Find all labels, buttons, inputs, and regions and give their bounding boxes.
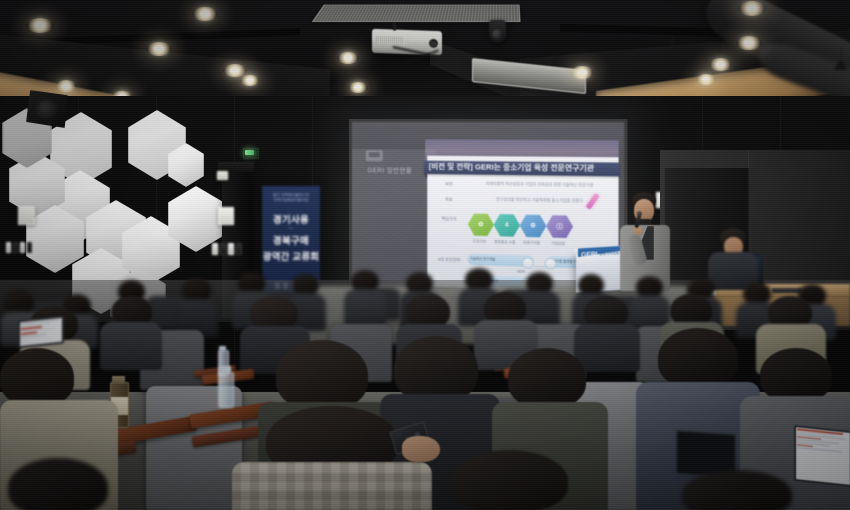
audience-person [344, 270, 386, 326]
downlight [738, 1, 766, 16]
audience-person-foreground [232, 406, 432, 510]
exit-sign-glow [245, 150, 254, 155]
wall-notice-column [218, 207, 234, 225]
downlight [192, 7, 218, 21]
water-bottle-cap [219, 366, 231, 373]
banner-line-2: 경북구매 [262, 233, 320, 247]
pendant-lamp-1 [663, 36, 680, 66]
downlight [55, 80, 77, 92]
audience-person-foreground [672, 470, 842, 510]
slide-hexagon-label-1: 도전가치 [466, 239, 493, 245]
slide-strategy-pill-1-text: 기술혁신 연구개발 [468, 257, 498, 262]
wall-plate[interactable] [217, 171, 228, 180]
downlight [709, 58, 732, 71]
audience-person-foreground [430, 450, 600, 510]
downlight [696, 74, 716, 85]
wall-notice-left [18, 206, 35, 225]
downlight [26, 18, 54, 33]
slide-row-label-goal: 목표 [437, 196, 461, 203]
banner-line-3: 광역간 교류회 [262, 249, 320, 263]
slide-logo [366, 150, 383, 161]
slide-header-label: GERI 일반현황 [367, 166, 412, 176]
wall-speaker [26, 90, 68, 128]
downlight [736, 36, 762, 50]
slide-title-text: [비전 및 전략] GERI는 중소기업 육성 전문연구기관 [424, 162, 595, 174]
banner-line-1: 경기사용 [262, 212, 320, 226]
light-switch-bank-column[interactable] [212, 243, 242, 255]
audience-person-foreground [0, 458, 150, 510]
audience-laptop[interactable] [18, 318, 62, 350]
downlight [146, 42, 172, 56]
ceiling-camera [489, 20, 506, 43]
slide-row-label-vision: 비전 [437, 182, 461, 188]
seminar-room-photo: GERI 일반현황 [비전 및 전략] GERI는 중소기업 육성 전문연구기관… [0, 0, 850, 510]
slide-hexagon-label-4: 기업성장 [544, 241, 572, 247]
downlight [570, 66, 594, 79]
audience-person [176, 278, 218, 336]
slide-row-label-core: 핵심가치 [434, 216, 463, 223]
pendant-lamp-3 [834, 48, 847, 70]
slide-strategy-dot-2 [545, 257, 557, 269]
water-bottle [218, 372, 234, 408]
slide-hexagon-label-3: 미래가치형 [518, 240, 546, 246]
slide-row-label-strategy: 4대 추진전략 [432, 256, 467, 263]
light-switch-bank-left[interactable] [6, 242, 32, 253]
slide-hexagon-label-2: 현장중심 소통 [491, 239, 518, 245]
downlight [240, 75, 260, 86]
podium-brand: GERI [581, 251, 597, 259]
downlight [337, 52, 359, 64]
ceiling-ac-vent-center [312, 5, 521, 22]
banner-divider: ↔ [262, 226, 320, 231]
water-bottle-cap [219, 346, 226, 351]
slide-title-bar: [비전 및 전략] GERI는 중소기업 육성 전문연구기관 [424, 160, 620, 176]
banner-subtitle-2: 지역기업육성지원사업 [262, 198, 320, 203]
downlight [348, 82, 368, 93]
